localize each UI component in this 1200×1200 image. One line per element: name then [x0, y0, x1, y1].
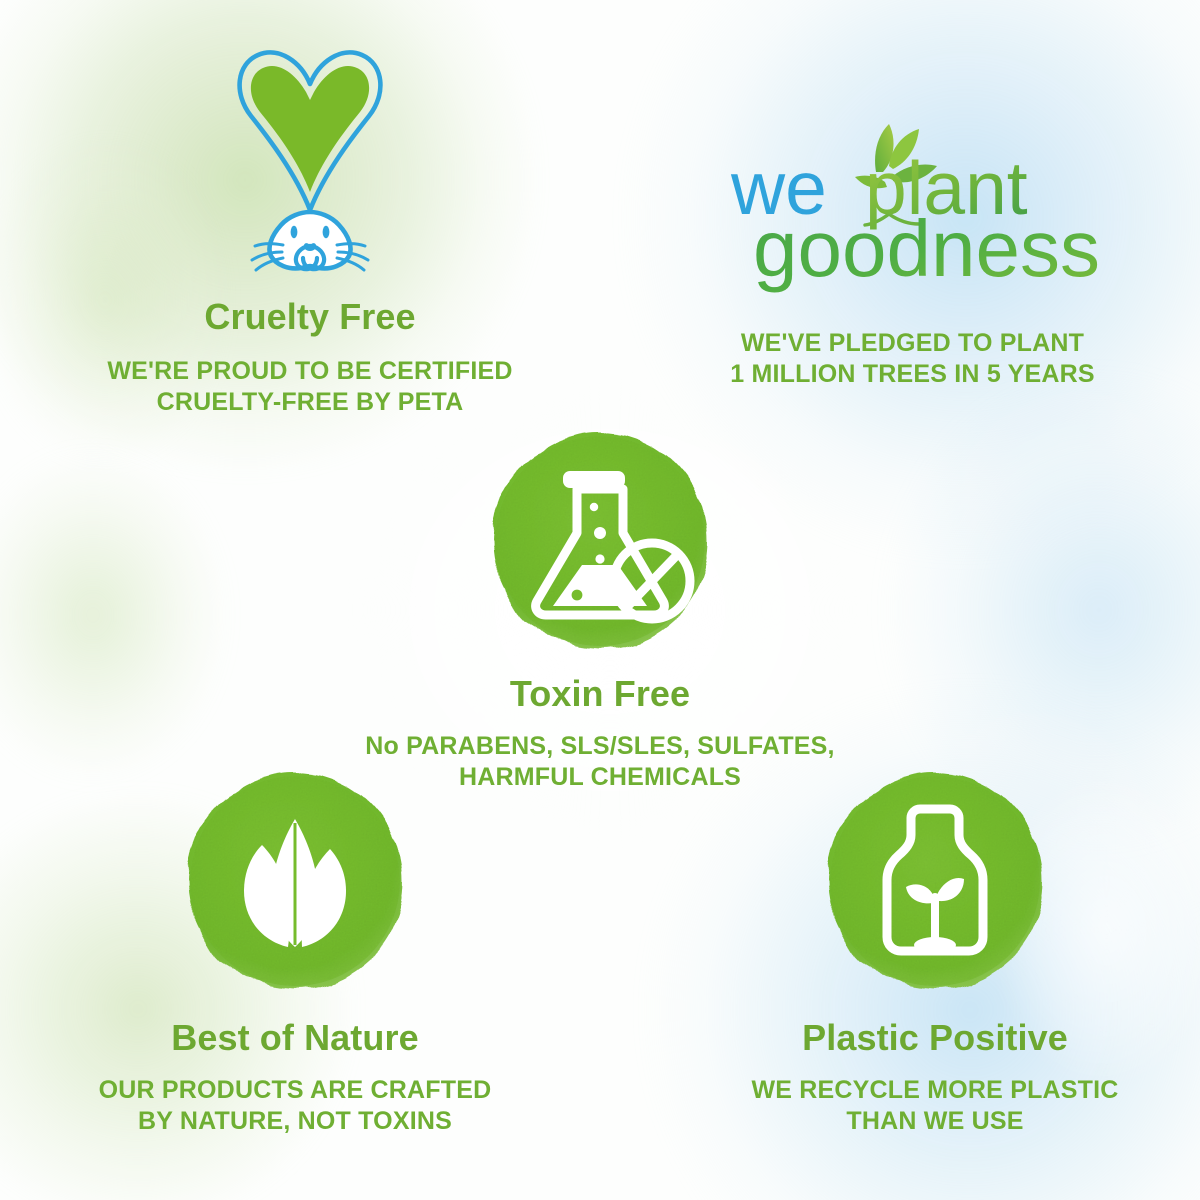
peta-bunny-heart-icon [20, 30, 600, 280]
card-description-line: BY NATURE, NOT TOXINS [5, 1106, 585, 1137]
no-chemicals-flask-icon [310, 425, 890, 657]
card-description-line: No PARABENS, SLS/SLES, SULFATES, [310, 731, 890, 762]
card-best-of-nature: Best of Nature OUR PRODUCTS ARE CRAFTED … [5, 765, 585, 1137]
card-plastic-positive: Plastic Positive WE RECYCLE MORE PLASTIC… [645, 765, 1200, 1137]
card-title: Toxin Free [310, 675, 890, 713]
card-description-line: THAN WE USE [645, 1106, 1200, 1137]
card-description-line: WE'RE PROUD TO BE CERTIFIED [20, 356, 600, 387]
card-title: Cruelty Free [20, 298, 600, 336]
card-description-line: WE'VE PLEDGED TO PLANT [640, 328, 1185, 359]
card-title: Plastic Positive [645, 1019, 1200, 1057]
bunny-eye-left [291, 226, 298, 238]
we-plant-goodness-logo: we plant goodness [640, 110, 1185, 288]
card-description-line: CRUELTY-FREE BY PETA [20, 387, 600, 418]
card-description: WE'RE PROUD TO BE CERTIFIED CRUELTY-FREE… [20, 356, 600, 418]
flask-bubble [595, 554, 604, 563]
infographic-canvas: Cruelty Free WE'RE PROUD TO BE CERTIFIED… [0, 0, 1200, 1200]
card-description: WE RECYCLE MORE PLASTIC THAN WE USE [645, 1075, 1200, 1137]
logo-word-goodness: goodness [753, 204, 1100, 293]
bunny-head [269, 212, 350, 268]
card-description-line: OUR PRODUCTS ARE CRAFTED [5, 1075, 585, 1106]
flask-bubble [590, 503, 598, 511]
card-we-plant-goodness: we plant goodness WE'VE PLEDGED TO PLANT… [640, 110, 1185, 390]
flask-bubble-negative [572, 590, 583, 601]
soil-mound [914, 937, 956, 953]
flask-bubble [594, 527, 606, 539]
card-description: OUR PRODUCTS ARE CRAFTED BY NATURE, NOT … [5, 1075, 585, 1137]
three-leaves-icon [5, 765, 585, 997]
card-toxin-free: Toxin Free No PARABENS, SLS/SLES, SULFAT… [310, 425, 890, 793]
card-description-line: 1 MILLION TREES IN 5 YEARS [640, 359, 1185, 390]
card-description-line: WE RECYCLE MORE PLASTIC [645, 1075, 1200, 1106]
bottle-sprout-icon [645, 765, 1200, 997]
card-description: WE'VE PLEDGED TO PLANT 1 MILLION TREES I… [640, 328, 1185, 390]
bunny-eye-right [323, 226, 330, 238]
card-cruelty-free: Cruelty Free WE'RE PROUD TO BE CERTIFIED… [20, 30, 600, 418]
card-title: Best of Nature [5, 1019, 585, 1057]
